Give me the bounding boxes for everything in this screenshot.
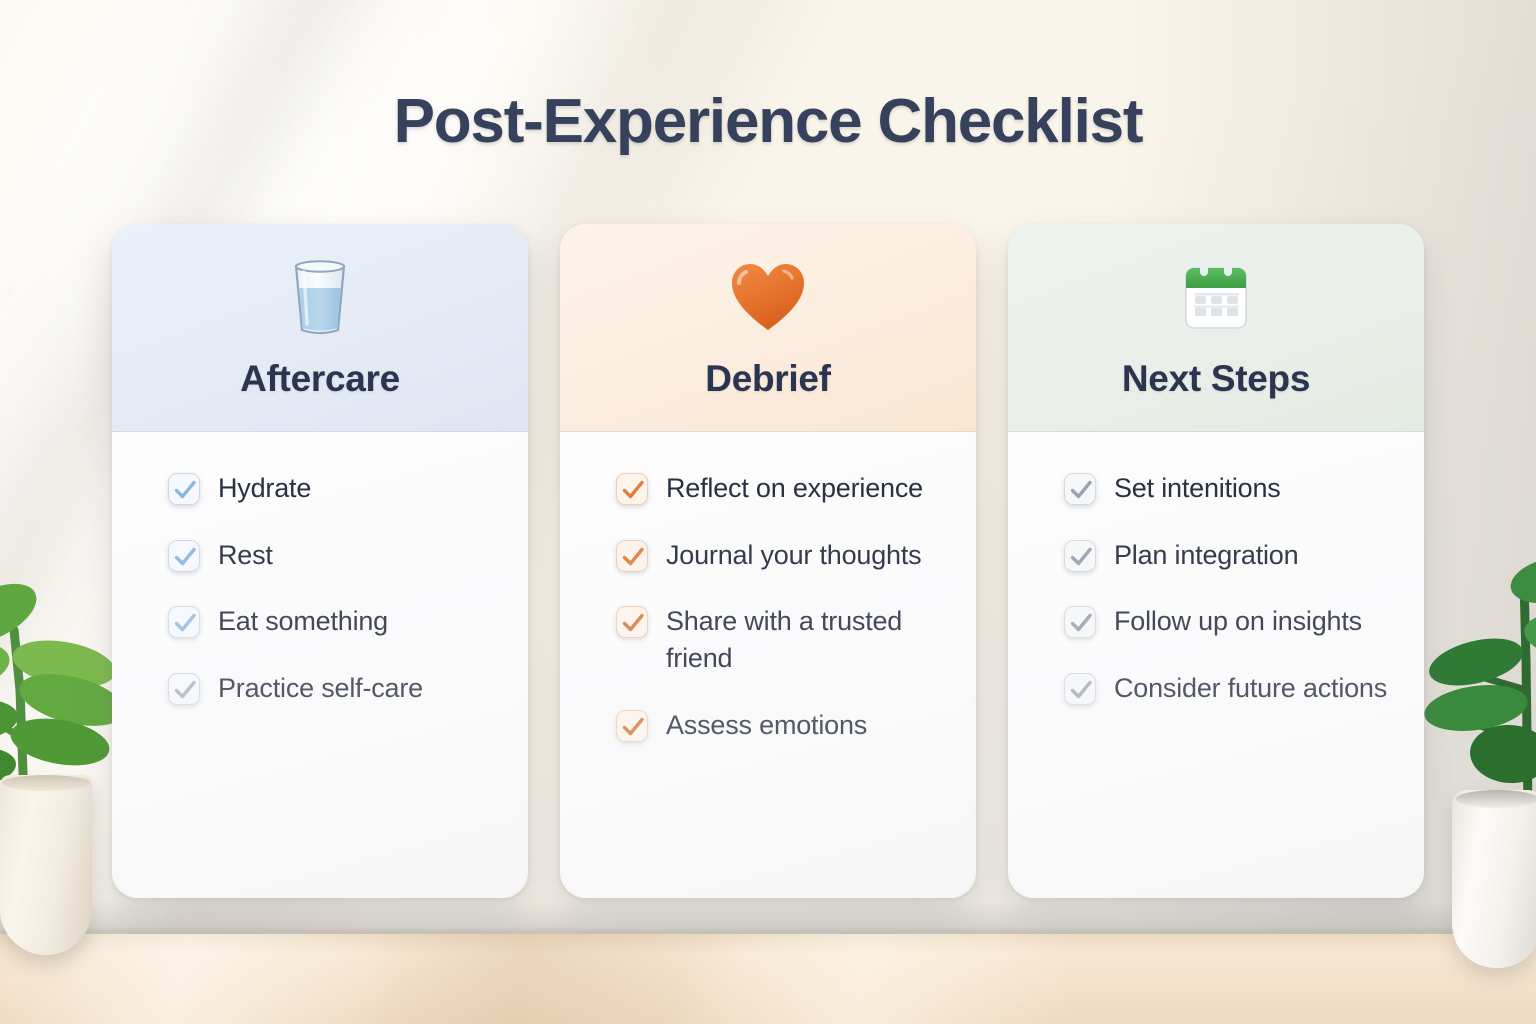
checkbox-checked-icon[interactable]	[1064, 673, 1096, 705]
card-title-next-steps: Next Steps	[1122, 358, 1310, 400]
card-header-next-steps: Next Steps	[1008, 224, 1424, 432]
list-item-label: Hydrate	[218, 470, 311, 507]
checkbox-checked-icon[interactable]	[168, 473, 200, 505]
list-item[interactable]: Journal your thoughts	[616, 537, 946, 574]
checklist-debrief: Reflect on experience Journal your thoug…	[616, 470, 946, 744]
card-body-next-steps: Set intenitions Plan integration Follow …	[1008, 432, 1424, 898]
list-item[interactable]: Plan integration	[1064, 537, 1394, 574]
glass-of-water-icon	[274, 250, 366, 342]
checkbox-checked-icon[interactable]	[1064, 540, 1096, 572]
card-title-aftercare: Aftercare	[240, 358, 400, 400]
list-item-label: Rest	[218, 537, 273, 574]
checklist-card-debrief[interactable]: Debrief Reflect on experience Journal yo…	[560, 224, 976, 898]
list-item[interactable]: Rest	[168, 537, 498, 574]
list-item[interactable]: Assess emotions	[616, 707, 946, 744]
checkbox-checked-icon[interactable]	[616, 710, 648, 742]
list-item[interactable]: Follow up on insights	[1064, 603, 1394, 640]
checkbox-checked-icon[interactable]	[616, 473, 648, 505]
card-body-aftercare: Hydrate Rest Eat something	[112, 432, 528, 898]
checkbox-checked-icon[interactable]	[168, 540, 200, 572]
checkbox-checked-icon[interactable]	[1064, 606, 1096, 638]
list-item[interactable]: Practice self-care	[168, 670, 498, 707]
list-item-label: Eat something	[218, 603, 388, 640]
orange-heart-icon	[722, 250, 814, 342]
card-title-debrief: Debrief	[705, 358, 830, 400]
card-header-aftercare: Aftercare	[112, 224, 528, 432]
list-item-label: Share with a trusted friend	[666, 603, 946, 676]
list-item-label: Assess emotions	[666, 707, 867, 744]
checkbox-checked-icon[interactable]	[168, 673, 200, 705]
list-item-label: Set intenitions	[1114, 470, 1281, 507]
list-item-label: Follow up on insights	[1114, 603, 1362, 640]
list-item[interactable]: Hydrate	[168, 470, 498, 507]
list-item-label: Practice self-care	[218, 670, 423, 707]
list-item-label: Plan integration	[1114, 537, 1298, 574]
list-item[interactable]: Consider future actions	[1064, 670, 1394, 707]
checklist-next-steps: Set intenitions Plan integration Follow …	[1064, 470, 1394, 707]
list-item-label: Consider future actions	[1114, 670, 1387, 707]
list-item-label: Journal your thoughts	[666, 537, 921, 574]
checklist-card-aftercare[interactable]: Aftercare Hydrate Rest	[112, 224, 528, 898]
checkbox-checked-icon[interactable]	[616, 540, 648, 572]
list-item-label: Reflect on experience	[666, 470, 923, 507]
list-item[interactable]: Set intenitions	[1064, 470, 1394, 507]
list-item[interactable]: Share with a trusted friend	[616, 603, 946, 676]
checklist-card-next-steps[interactable]: Next Steps Set intenitions Plan integrat…	[1008, 224, 1424, 898]
card-header-debrief: Debrief	[560, 224, 976, 432]
calendar-icon	[1170, 250, 1262, 342]
checklist-aftercare: Hydrate Rest Eat something	[168, 470, 498, 707]
checkbox-checked-icon[interactable]	[1064, 473, 1096, 505]
list-item[interactable]: Eat something	[168, 603, 498, 640]
checklist-card-grid: Aftercare Hydrate Rest	[0, 0, 1536, 1024]
list-item[interactable]: Reflect on experience	[616, 470, 946, 507]
card-body-debrief: Reflect on experience Journal your thoug…	[560, 432, 976, 898]
checkbox-checked-icon[interactable]	[616, 606, 648, 638]
checkbox-checked-icon[interactable]	[168, 606, 200, 638]
